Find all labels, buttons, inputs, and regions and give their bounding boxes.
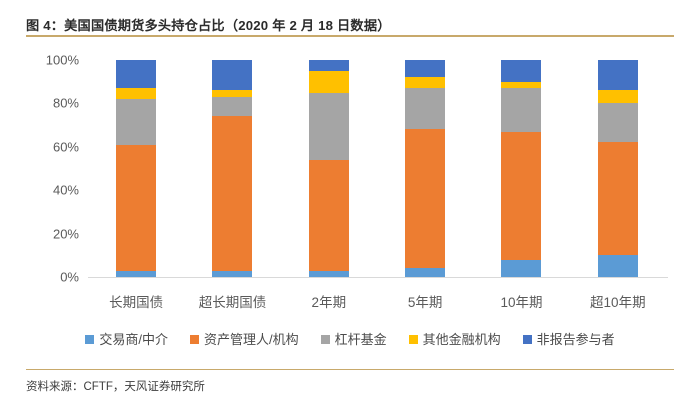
bar-segment[interactable] xyxy=(116,271,156,278)
figure-footer: 资料来源：CFTF，天风证券研究所 xyxy=(26,376,674,396)
bar-segment[interactable] xyxy=(116,99,156,145)
bar-segment[interactable] xyxy=(405,60,445,77)
legend-label: 非报告参与者 xyxy=(537,329,615,348)
bar-segment[interactable] xyxy=(598,142,638,255)
x-axis-tick-label: 超10年期 xyxy=(590,291,646,311)
stacked-bar[interactable] xyxy=(309,60,349,277)
bar-group: 超长期国债 xyxy=(184,60,280,277)
page-title: 图 4：美国国债期货多头持仓占比（2020 年 2 月 18 日数据） xyxy=(26,15,391,34)
legend-swatch-icon xyxy=(321,335,330,344)
bar-segment[interactable] xyxy=(212,60,252,90)
bar-segment[interactable] xyxy=(405,88,445,129)
bar-segment[interactable] xyxy=(501,60,541,82)
bar-segment[interactable] xyxy=(501,88,541,131)
source-note: 资料来源：CFTF，天风证券研究所 xyxy=(26,378,205,394)
bar-segment[interactable] xyxy=(598,60,638,90)
bar-segment[interactable] xyxy=(309,71,349,93)
y-axis-tick-label: 60% xyxy=(23,139,79,154)
stacked-bar[interactable] xyxy=(598,60,638,277)
chart-legend: 交易商/中介资产管理人/机构杠杆基金其他金融机构非报告参与者 xyxy=(26,327,674,349)
y-axis-tick-label: 40% xyxy=(23,183,79,198)
stacked-bar[interactable] xyxy=(116,60,156,277)
legend-swatch-icon xyxy=(523,335,532,344)
bar-segment[interactable] xyxy=(598,255,638,277)
bar-segment[interactable] xyxy=(501,260,541,277)
bar-segment[interactable] xyxy=(309,160,349,271)
legend-swatch-icon xyxy=(85,335,94,344)
legend-item[interactable]: 非报告参与者 xyxy=(523,329,615,348)
bar-segment[interactable] xyxy=(116,88,156,99)
legend-label: 杠杆基金 xyxy=(335,329,387,348)
title-divider xyxy=(26,35,674,37)
legend-item[interactable]: 资产管理人/机构 xyxy=(190,329,299,348)
x-axis-tick-label: 10年期 xyxy=(500,291,542,311)
bar-segment[interactable] xyxy=(309,60,349,71)
legend-item[interactable]: 杠杆基金 xyxy=(321,329,387,348)
stacked-bar[interactable] xyxy=(212,60,252,277)
legend-label: 资产管理人/机构 xyxy=(204,329,299,348)
bar-segment[interactable] xyxy=(212,271,252,278)
bar-segment[interactable] xyxy=(309,271,349,278)
bar-group: 超10年期 xyxy=(570,60,666,277)
bar-segment[interactable] xyxy=(405,77,445,88)
chart-area: 0%20%40%60%80%100%长期国债超长期国债2年期5年期10年期超10… xyxy=(26,44,674,314)
legend-label: 其他金融机构 xyxy=(423,329,501,348)
legend-item[interactable]: 其他金融机构 xyxy=(409,329,501,348)
bar-segment[interactable] xyxy=(116,60,156,88)
bar-group: 10年期 xyxy=(473,60,569,277)
x-axis-tick-label: 超长期国债 xyxy=(199,291,267,311)
bar-segment[interactable] xyxy=(309,93,349,160)
bar-segment[interactable] xyxy=(212,97,252,117)
x-axis-tick-label: 2年期 xyxy=(312,291,347,311)
bar-segment[interactable] xyxy=(501,132,541,260)
figure-title-bar: 图 4：美国国债期货多头持仓占比（2020 年 2 月 18 日数据） xyxy=(26,13,674,35)
legend-item[interactable]: 交易商/中介 xyxy=(85,329,168,348)
bar-segment[interactable] xyxy=(598,90,638,103)
x-axis-tick-label: 长期国债 xyxy=(109,291,163,311)
stacked-bar[interactable] xyxy=(501,60,541,277)
stacked-bar[interactable] xyxy=(405,60,445,277)
figure-container: 图 4：美国国债期货多头持仓占比（2020 年 2 月 18 日数据） 0%20… xyxy=(0,0,700,405)
bar-segment[interactable] xyxy=(598,103,638,142)
bar-group: 长期国债 xyxy=(88,60,184,277)
footer-divider xyxy=(26,369,674,370)
bar-segment[interactable] xyxy=(405,129,445,268)
bar-segment[interactable] xyxy=(212,116,252,270)
y-axis-tick-label: 100% xyxy=(23,53,79,68)
legend-swatch-icon xyxy=(409,335,418,344)
y-axis-tick-label: 0% xyxy=(23,270,79,285)
x-axis-tick-label: 5年期 xyxy=(408,291,443,311)
plot-region: 0%20%40%60%80%100%长期国债超长期国债2年期5年期10年期超10… xyxy=(88,60,666,277)
bar-segment[interactable] xyxy=(405,268,445,277)
bar-group: 5年期 xyxy=(377,60,473,277)
bar-segment[interactable] xyxy=(116,145,156,271)
legend-swatch-icon xyxy=(190,335,199,344)
y-axis-tick-label: 20% xyxy=(23,226,79,241)
y-axis-tick-label: 80% xyxy=(23,96,79,111)
bar-group: 2年期 xyxy=(281,60,377,277)
x-axis-line xyxy=(88,277,668,278)
legend-label: 交易商/中介 xyxy=(99,329,168,348)
